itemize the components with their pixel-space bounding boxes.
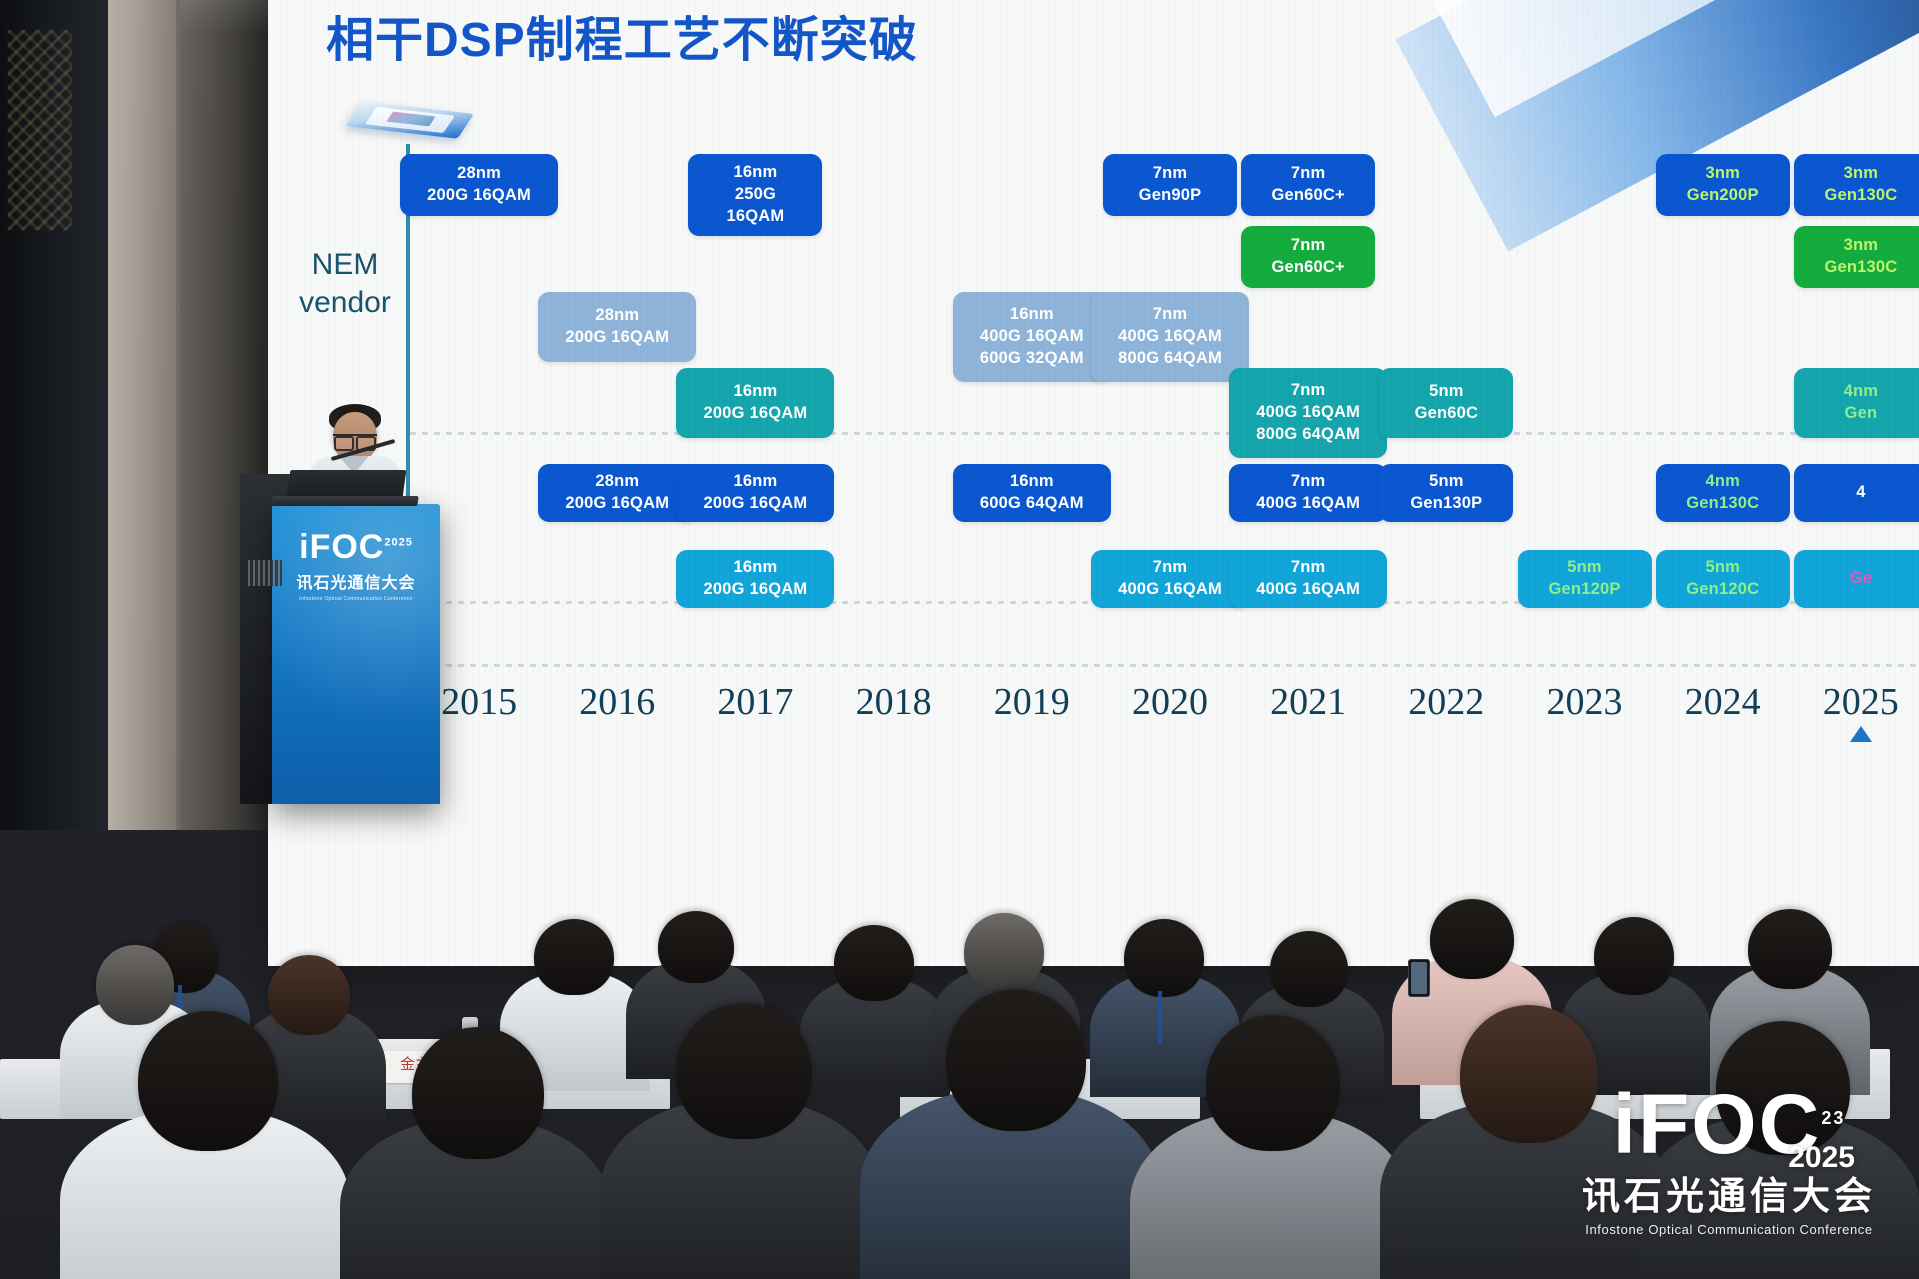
- roadmap-node-line: 4: [1856, 482, 1865, 504]
- roadmap-node-line: Gen60C+: [1271, 185, 1344, 207]
- roadmap-node-line: 3nm: [1705, 163, 1740, 185]
- smartphone: [1408, 959, 1430, 997]
- roadmap-node: 5nmGen120P: [1518, 550, 1652, 608]
- conference-watermark-logo: iFOC23 2025 讯石光通信大会 Infostone Optical Co…: [1579, 1087, 1879, 1257]
- roadmap-node-line: 28nm: [457, 163, 501, 185]
- podium-logo-mark-text: iFOC: [299, 528, 384, 566]
- roadmap-node: 16nm250G16QAM: [688, 154, 822, 236]
- roadmap-node-line: 5nm: [1567, 557, 1602, 579]
- audience-head: [96, 945, 174, 1025]
- year-tick-2017: 2017: [686, 680, 824, 724]
- roadmap-node: 5nmGen60C: [1379, 368, 1513, 438]
- year-tick-2022: 2022: [1377, 680, 1515, 724]
- year-tick-2023: 2023: [1515, 680, 1653, 724]
- audience-head: [964, 913, 1044, 991]
- roadmap-node: 7nm400G 16QAM: [1229, 464, 1387, 522]
- roadmap-node-line: 400G 16QAM: [1256, 579, 1360, 601]
- roadmap-node-line: Ge: [1850, 568, 1872, 590]
- roadmap-node-line: 400G 16QAM: [980, 326, 1084, 348]
- year-tick-label: 2021: [1270, 681, 1346, 723]
- roadmap-node-line: 5nm: [1429, 471, 1464, 493]
- roadmap-node: 4nmGen130C: [1656, 464, 1790, 522]
- roadmap-node: 16nm600G 64QAM: [953, 464, 1111, 522]
- roadmap-node: 16nm400G 16QAM600G 32QAM: [953, 292, 1111, 382]
- roadmap-node: 28nm200G 16QAM: [400, 154, 558, 216]
- year-tick-2018: 2018: [825, 680, 963, 724]
- roadmap-node-line: Gen130P: [1410, 493, 1482, 515]
- year-tick-2019: 2019: [963, 680, 1101, 724]
- audience-head: [412, 1027, 544, 1159]
- roadmap-node-line: 7nm: [1153, 163, 1188, 185]
- roadmap-node: 16nm200G 16QAM: [676, 464, 834, 522]
- roadmap-node-line: 800G 64QAM: [1118, 348, 1222, 370]
- roadmap-node-line: 7nm: [1153, 557, 1188, 579]
- roadmap-node: 3nmGen130C: [1794, 154, 1919, 216]
- roadmap-node-line: 400G 16QAM: [1118, 579, 1222, 601]
- watermark-en-name: Infostone Optical Communication Conferen…: [1579, 1222, 1879, 1237]
- roadmap-node-line: Gen130C: [1824, 185, 1897, 207]
- audience-head: [1270, 931, 1348, 1007]
- year-tick-label: 2023: [1546, 681, 1622, 723]
- audience-head: [1206, 1015, 1340, 1151]
- roadmap-node: 3nmGen200P: [1656, 154, 1790, 216]
- year-tick-label: 2016: [579, 681, 655, 723]
- roadmap-node: 28nm200G 16QAM: [538, 292, 696, 362]
- chip-die-icon: [350, 90, 470, 146]
- roadmap-node-line: Gen90P: [1139, 185, 1202, 207]
- audience-head: [658, 911, 734, 983]
- roadmap-node-line: 5nm: [1705, 557, 1740, 579]
- roadmap-node-line: 7nm: [1291, 380, 1326, 402]
- roadmap-node: 5nmGen120C: [1656, 550, 1790, 608]
- roadmap-node-line: 16nm: [734, 162, 778, 184]
- roadmap-node: 7nm400G 16QAM: [1091, 550, 1249, 608]
- roadmap-node-line: 200G 16QAM: [704, 493, 808, 515]
- roadmap-node: 7nm400G 16QAM: [1229, 550, 1387, 608]
- podium-logo-cn: 讯石光通信大会: [291, 569, 421, 593]
- watermark-year: 2025: [1788, 1141, 1855, 1175]
- year-axis: 2015201620172018201920202021202220232024…: [410, 680, 1919, 750]
- audience-head: [676, 1003, 812, 1139]
- slide-title: 相干DSP制程工艺不断突破: [326, 0, 918, 70]
- roadmap-node-line: 7nm: [1291, 471, 1326, 493]
- roadmap-node-line: 200G 16QAM: [565, 493, 669, 515]
- audience-head: [946, 989, 1086, 1131]
- roadmap-node-line: 4nm: [1844, 381, 1879, 403]
- audience-head: [1594, 917, 1674, 995]
- roadmap-node: 7nm400G 16QAM800G 64QAM: [1229, 368, 1387, 458]
- roadmap-node-line: Gen200P: [1687, 185, 1759, 207]
- year-tick-2020: 2020: [1101, 680, 1239, 724]
- roadmap-node-line: 4nm: [1705, 471, 1740, 493]
- roadmap-node: 16nm200G 16QAM: [676, 550, 834, 608]
- roadmap-node-line: Gen130C: [1824, 257, 1897, 279]
- roadmap-node-line: 7nm: [1291, 235, 1326, 257]
- roadmap-node-line: 3nm: [1844, 235, 1879, 257]
- podium-conference-logo: iFOC2025 讯石光通信大会 Infostone Optical Commu…: [291, 530, 421, 602]
- roadmap-node-line: 3nm: [1844, 163, 1879, 185]
- roadmap-node: 7nmGen90P: [1103, 154, 1237, 216]
- roadmap-node-line: 16QAM: [727, 206, 785, 228]
- roadmap-node-line: 16nm: [734, 471, 778, 493]
- roadmap-node-line: 400G 16QAM: [1118, 326, 1222, 348]
- year-tick-label: 2018: [856, 681, 932, 723]
- roadmap-node-line: 7nm: [1291, 557, 1326, 579]
- left-wall-dark: [0, 0, 120, 830]
- roadmap-node: 3nmGen130C: [1794, 226, 1919, 288]
- roadmap-node: Ge: [1794, 550, 1919, 608]
- podium-logo-mark: iFOC2025: [291, 530, 421, 564]
- roadmap-node: 4: [1794, 464, 1919, 522]
- year-tick-label: 2020: [1132, 681, 1208, 723]
- lanyard: [1158, 991, 1162, 1043]
- roadmap-node-line: 200G 16QAM: [704, 403, 808, 425]
- podium-logo-en: Infostone Optical Communication Conferen…: [291, 596, 421, 602]
- roadmap-node-line: 200G 16QAM: [427, 185, 531, 207]
- axis-category-label-line1: NEM: [290, 246, 400, 284]
- roadmap-node-line: Gen: [1845, 403, 1878, 425]
- roadmap-node: 16nm200G 16QAM: [676, 368, 834, 438]
- year-tick-2021: 2021: [1239, 680, 1377, 724]
- axis-category-label: NEM vendor: [290, 246, 400, 322]
- roadmap-node: 5nmGen130P: [1379, 464, 1513, 522]
- roadmap-node: 7nmGen60C+: [1241, 226, 1375, 288]
- podium-logo-year-sup: 2025: [384, 537, 412, 549]
- year-tick-label: 2015: [441, 681, 517, 723]
- year-tick-label: 2017: [717, 681, 793, 723]
- roadmap-node-line: Gen60C: [1415, 403, 1479, 425]
- audience-head: [1124, 919, 1204, 997]
- wall-panel-light: [108, 0, 180, 830]
- presenter-glasses: [333, 434, 377, 445]
- audience-head: [1430, 899, 1514, 979]
- roadmap-node-line: 16nm: [1010, 304, 1054, 326]
- roadmap-node-line: 200G 16QAM: [704, 579, 808, 601]
- roadmap-node-line: 200G 16QAM: [565, 327, 669, 349]
- year-tick-2024: 2024: [1654, 680, 1792, 724]
- year-tick-label: 2025: [1823, 681, 1899, 723]
- row-group-separator-3: [410, 664, 1919, 667]
- roadmap-node-line: 16nm: [1010, 471, 1054, 493]
- watermark-logo-edition: 23: [1821, 1108, 1845, 1128]
- roadmap-node-line: 7nm: [1153, 304, 1188, 326]
- roadmap-node-line: Gen60C+: [1271, 257, 1344, 279]
- year-tick-label: 2022: [1408, 681, 1484, 723]
- roadmap-node-line: 600G 32QAM: [980, 348, 1084, 370]
- roadmap-node-line: 400G 16QAM: [1256, 493, 1360, 515]
- roadmap-node-line: 16nm: [734, 381, 778, 403]
- audience-head: [1460, 1005, 1598, 1143]
- year-tick-label: 2019: [994, 681, 1070, 723]
- roadmap-node: 7nm400G 16QAM800G 64QAM: [1091, 292, 1249, 382]
- roadmap-node-line: 800G 64QAM: [1256, 424, 1360, 446]
- year-tick-2016: 2016: [548, 680, 686, 724]
- audience-head: [268, 955, 350, 1035]
- roadmap-node-line: 28nm: [595, 305, 639, 327]
- audience-head: [138, 1011, 278, 1151]
- roadmap-node-line: Gen130C: [1686, 493, 1759, 515]
- presenter-laptop: [286, 470, 407, 504]
- roadmap-node-line: 400G 16QAM: [1256, 402, 1360, 424]
- roadmap-node-line: 5nm: [1429, 381, 1464, 403]
- audience-head: [534, 919, 614, 995]
- roadmap-node-line: Gen120C: [1686, 579, 1759, 601]
- podium-speaker-grill: [248, 560, 282, 586]
- roadmap-node-line: 250G: [735, 184, 776, 206]
- year-tick-2025: 2025: [1792, 680, 1919, 724]
- audience-head: [834, 925, 914, 1001]
- roadmap-node-line: 28nm: [595, 471, 639, 493]
- roadmap-node-line: Gen120P: [1549, 579, 1621, 601]
- roadmap-node-line: 16nm: [734, 557, 778, 579]
- year-tick-label: 2024: [1685, 681, 1761, 723]
- roadmap-node: 7nmGen60C+: [1241, 154, 1375, 216]
- roadmap-node-line: 7nm: [1291, 163, 1326, 185]
- roadmap-node-line: 600G 64QAM: [980, 493, 1084, 515]
- roadmap-node: 4nmGen: [1794, 368, 1919, 438]
- roadmap-node: 28nm200G 16QAM: [538, 464, 696, 522]
- axis-category-label-line2: vendor: [290, 284, 400, 322]
- current-year-marker: [1850, 726, 1872, 742]
- row-group-separator-1: [410, 432, 1919, 435]
- audience-head: [1748, 909, 1832, 989]
